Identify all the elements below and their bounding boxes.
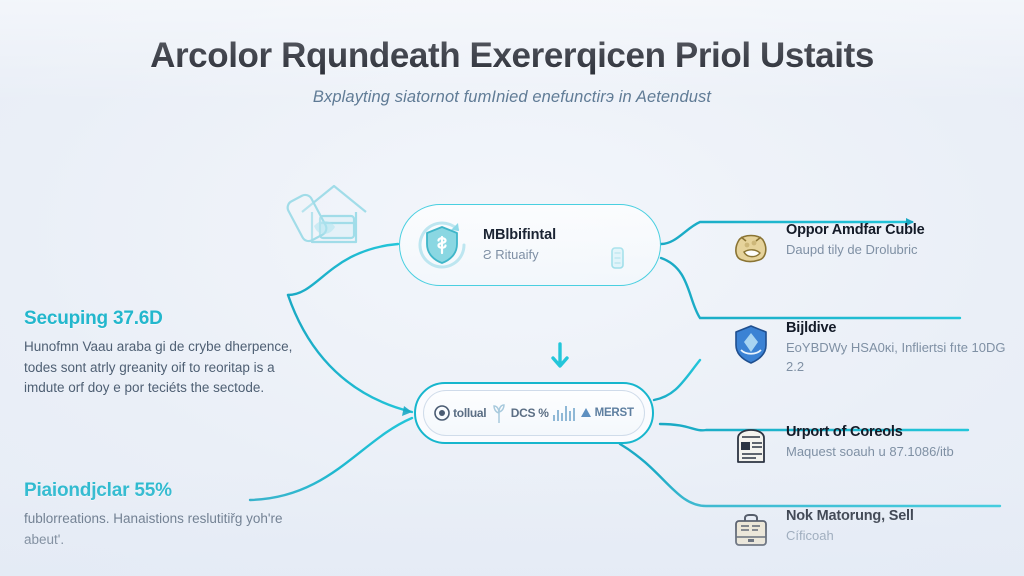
- center-node-subtitle: Ƨ Rituaify: [483, 247, 556, 262]
- list-item-title: Urport of Coreols: [786, 424, 954, 440]
- list-item[interactable]: Nok Matorung, Sell Cíficoah: [730, 508, 1020, 552]
- down-arrow-icon: [553, 344, 567, 366]
- document-icon: [730, 426, 772, 468]
- dcs-logo: DCS %: [511, 406, 549, 420]
- merst-logo: MERST: [580, 407, 634, 419]
- header: Arcolor Rqundeath Exererqicen Priol Usta…: [0, 36, 1024, 107]
- briefcase-icon: [730, 510, 772, 552]
- list-item-subtitle: Daupd tily de Drolubric: [786, 241, 924, 260]
- left-stat-body-2: fublorreations. Hanaistions reslutitiřg …: [24, 509, 296, 550]
- list-item-title: Nok Matorung, Sell: [786, 508, 914, 524]
- center-node-title: MBlbifintal: [483, 227, 556, 243]
- shield-dollar-icon: [414, 217, 470, 273]
- left-stat-body-1: Hunofmn Vaau araba gi de crybe dherpence…: [24, 337, 296, 399]
- money-bag-icon: [730, 224, 772, 266]
- page-title: Arcolor Rqundeath Exererqicen Priol Usta…: [0, 36, 1024, 76]
- list-item-subtitle: Maquest soauh u 87.1086/itb: [786, 443, 954, 462]
- list-item[interactable]: Bĳldive EоYBDWy HSA0ĸi, Infliertsi fıte …: [730, 320, 1020, 377]
- list-item-title: Bĳldive: [786, 320, 1020, 336]
- list-item[interactable]: Oppor Amdfar Cuble Daupd tily de Drolubr…: [730, 222, 1020, 266]
- bars-logo: [553, 405, 576, 421]
- list-item-subtitle: Cíficoah: [786, 527, 914, 546]
- blue-shield-icon: [730, 322, 772, 364]
- left-stat-heading-2: Piaiondjclar 55%: [24, 480, 296, 502]
- list-item-title: Oppor Amdfar Cuble: [786, 222, 924, 238]
- plant-logo: [491, 402, 507, 424]
- merst-logo-label: MERST: [595, 407, 634, 419]
- circular-logo-label: tollual: [453, 406, 486, 420]
- circular-logo: tollual: [434, 405, 486, 421]
- left-stat-block-1: Secuping 37.6D Hunofmn Vaau araba gi de …: [24, 308, 296, 399]
- list-item-subtitle: EоYBDWy HSA0ĸi, Infliertsi fıte 10DG 2.2: [786, 339, 1020, 377]
- left-stat-block-2: Piaiondjclar 55% fublorreations. Hanaist…: [24, 480, 296, 550]
- list-item[interactable]: Urport of Coreols Maquest soauh u 87.108…: [730, 424, 1020, 468]
- infographic-canvas: Arcolor Rqundeath Exererqicen Priol Usta…: [0, 0, 1024, 576]
- logo-pill-card[interactable]: tollual DCS % MERST: [414, 382, 654, 444]
- page-subtitle: Bxplayting siatornot fuтInied enefunctir…: [0, 88, 1024, 107]
- left-stat-heading-1: Secuping 37.6D: [24, 308, 296, 330]
- house-card-outline-icon: [284, 168, 380, 260]
- center-shield-node[interactable]: MBlbifintal Ƨ Rituaify: [399, 204, 661, 286]
